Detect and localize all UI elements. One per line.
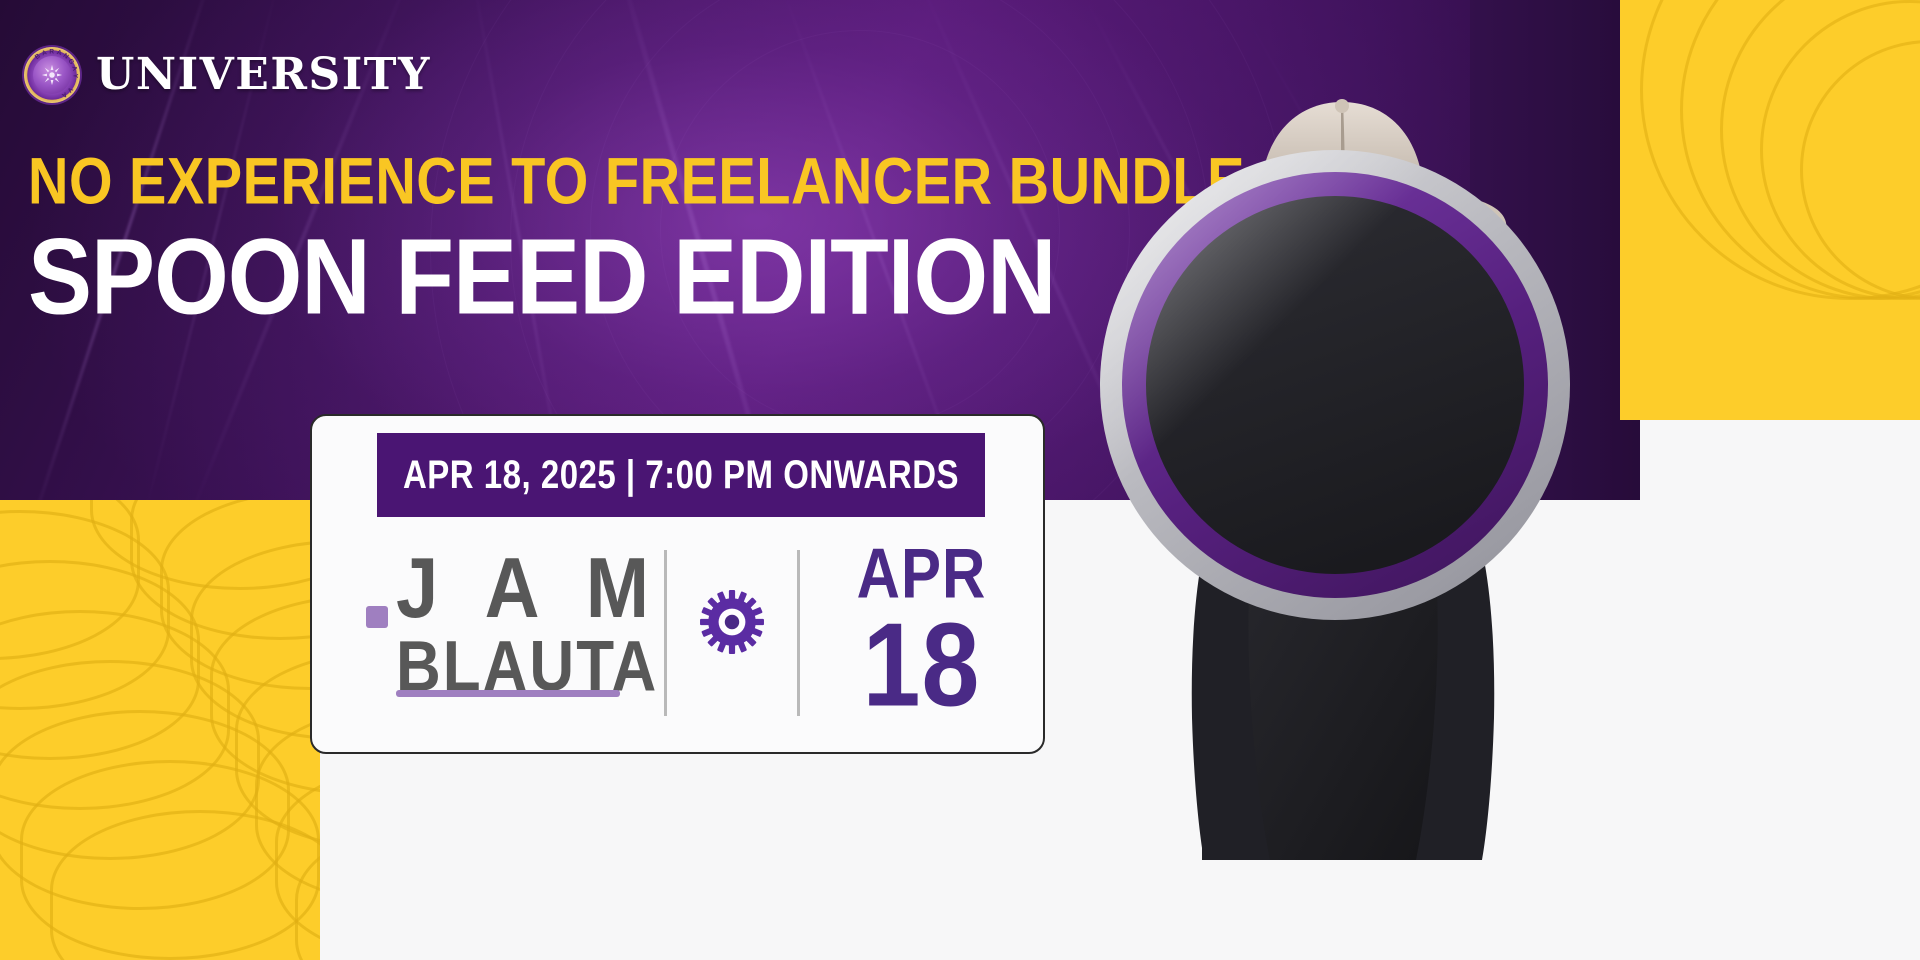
headline-line-1: NO EXPERIENCE TO FREELANCER BUNDLE <box>28 148 1245 214</box>
speaker-block: J A M BLAUTA <box>312 528 664 693</box>
headline-block: NO EXPERIENCE TO FREELANCER BUNDLE SPOON… <box>28 148 1245 320</box>
yellow-wave-panel <box>0 500 320 960</box>
big-date-day: 18 <box>863 612 981 721</box>
speaker-first-name: J A M <box>366 550 664 628</box>
card-body: J A M BLAUTA <box>312 528 1043 738</box>
speaker-photo-frame <box>1100 70 1570 860</box>
gear-sun-icon <box>699 589 765 655</box>
speaker-underline <box>396 690 620 697</box>
big-date-month: APR <box>857 542 987 606</box>
brand-wordmark: UNIVERSITY <box>96 53 431 97</box>
datetime-badge: APR 18, 2025 | 7:00 PM ONWARDS <box>377 433 985 517</box>
big-date-block: APR 18 <box>800 528 1043 708</box>
sun-star-emblem-icon <box>41 64 63 86</box>
datetime-badge-text: APR 18, 2025 | 7:00 PM ONWARDS <box>403 452 959 498</box>
headline-line-2: SPOON FEED EDITION <box>28 224 1245 332</box>
yellow-corner-pattern <box>1620 0 1920 420</box>
event-info-card: APR 18, 2025 | 7:00 PM ONWARDS J A M BLA… <box>310 414 1045 754</box>
university-seal-icon: BARANGAY VA <box>24 47 80 103</box>
promo-banner: BARANGAY VA UNIVERSITY NO EXPERIENCE TO … <box>0 0 1920 960</box>
brand-logo[interactable]: BARANGAY VA UNIVERSITY <box>24 47 431 103</box>
gear-icon-cell <box>667 528 797 716</box>
photo-ring-inner <box>1146 196 1524 574</box>
